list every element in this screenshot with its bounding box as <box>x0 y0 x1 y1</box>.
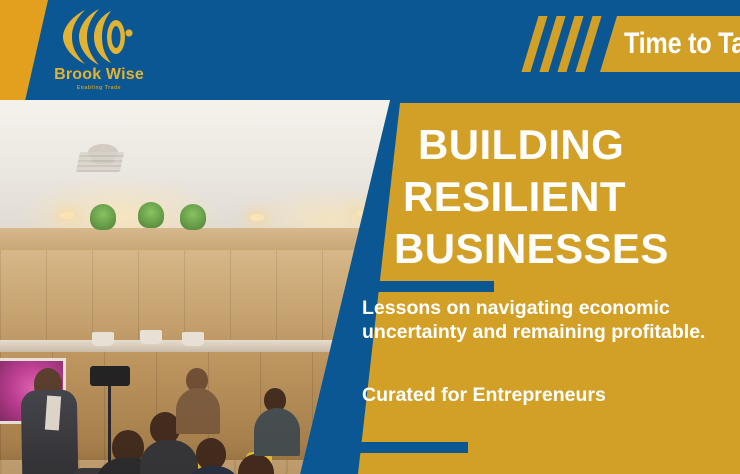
brand-name: Brook Wise <box>44 67 154 83</box>
brand-logo[interactable]: Brook Wise Enabling Trade <box>44 8 154 100</box>
photo-ceiling-vent <box>76 152 124 172</box>
page-title: BUILDING RESILIENT BUSINESSES <box>408 119 738 275</box>
time-to-talk-banner[interactable]: Time to Talk <box>528 16 740 72</box>
photo-plant-pot <box>92 332 114 346</box>
photo-audience-body <box>254 408 300 456</box>
flyer-canvas: Brook Wise Enabling Trade Time to Talk B… <box>0 0 740 474</box>
photo-downlight <box>60 212 74 219</box>
photo-speaker-shirt <box>45 396 61 431</box>
headline-line-3: BUSINESSES <box>394 223 738 275</box>
headline-line-1: BUILDING <box>418 119 738 171</box>
concentric-arcs-logo-icon <box>59 8 139 66</box>
headline-line-2: RESILIENT <box>403 171 738 223</box>
photo-plant <box>180 204 206 230</box>
four-slashes-icon <box>528 16 602 72</box>
subtitle-body: Lessons on navigating economic uncertain… <box>362 296 712 344</box>
subtitle-audience: Curated for Entrepreneurs <box>362 383 722 407</box>
photo-plant-pot <box>182 332 204 346</box>
divider-bar-upper <box>358 281 494 292</box>
photo-downlight <box>250 214 264 221</box>
photo-ceiling <box>0 100 420 228</box>
photo-plant <box>138 202 164 228</box>
banner-label: Time to Talk <box>624 25 740 63</box>
brand-tagline: Enabling Trade <box>44 86 154 91</box>
photo-plant-pot <box>140 330 162 344</box>
photo-audience-body <box>176 388 220 434</box>
divider-bar-lower <box>358 442 468 453</box>
photo-plant <box>90 204 116 230</box>
